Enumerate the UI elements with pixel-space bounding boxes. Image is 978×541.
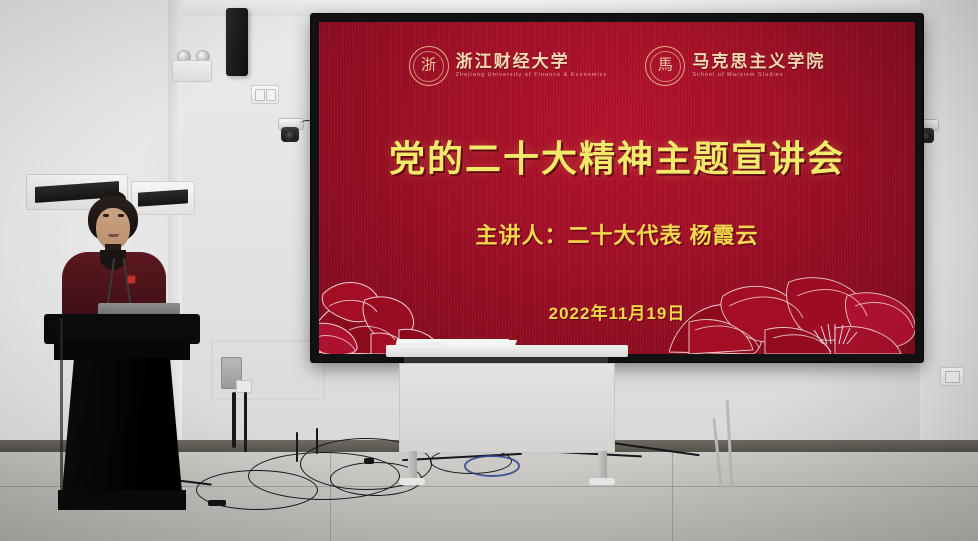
table-foot xyxy=(399,478,425,485)
school-name-en: School of Marxism Studies xyxy=(692,73,825,78)
screen-content: 浙 浙江财经大学 Zhejiang University of Finance … xyxy=(319,22,915,354)
table-leg xyxy=(598,451,607,481)
power-cable xyxy=(232,392,236,448)
cable-connector xyxy=(208,500,226,506)
right-wall xyxy=(920,0,978,470)
power-cable xyxy=(296,432,298,462)
presentation-room-photo: 浙 浙江财经大学 Zhejiang University of Finance … xyxy=(0,0,978,541)
power-outlet xyxy=(251,85,279,104)
table-foot xyxy=(589,478,615,485)
school-name-cn: 马克思主义学院 xyxy=(692,53,825,70)
wall-plate xyxy=(236,380,252,393)
power-cable xyxy=(316,428,318,454)
slide-subtitle: 主讲人：二十大代表 杨霞云 xyxy=(319,218,915,250)
floor-tile-seam xyxy=(672,452,673,541)
crest-glyph: 浙 xyxy=(421,59,436,74)
podium-top xyxy=(44,314,200,344)
podium-base xyxy=(58,490,186,510)
wall-speaker xyxy=(226,8,248,76)
podium-edge xyxy=(60,318,63,494)
emergency-light-unit xyxy=(172,60,212,82)
eye xyxy=(118,214,124,217)
podium-body xyxy=(62,358,182,492)
led-display-screen: 浙 浙江财经大学 Zhejiang University of Finance … xyxy=(311,14,923,362)
university-name-cn: 浙江财经大学 xyxy=(456,53,608,70)
slide-title: 党的二十大精神主题宣讲会 xyxy=(319,130,915,182)
slide-date: 2022年11月19日 xyxy=(319,299,915,324)
coiled-cable xyxy=(464,455,520,477)
table-leg xyxy=(408,451,417,481)
school-crest-icon: 馬 xyxy=(645,46,685,86)
party-emblem-pin xyxy=(128,276,135,283)
podium-lip xyxy=(54,342,190,360)
cable-connector xyxy=(364,458,374,464)
university-logo: 浙 浙江财经大学 Zhejiang University of Finance … xyxy=(409,46,608,86)
university-name-en: Zhejiang University of Finance & Economi… xyxy=(456,73,608,78)
conference-table xyxy=(386,345,628,485)
table-top xyxy=(386,345,628,357)
school-logo: 馬 马克思主义学院 School of Marxism Studies xyxy=(645,46,825,86)
mouth xyxy=(108,234,119,237)
podium-area xyxy=(36,196,206,526)
eye xyxy=(103,214,109,217)
table-modesty-panel xyxy=(399,363,615,453)
power-outlet xyxy=(940,367,964,386)
screen-logo-row: 浙 浙江财经大学 Zhejiang University of Finance … xyxy=(319,46,915,86)
peony-decoration-left xyxy=(319,234,503,354)
power-cable xyxy=(244,392,247,452)
crest-glyph: 馬 xyxy=(658,59,673,74)
university-crest-icon: 浙 xyxy=(409,46,449,86)
